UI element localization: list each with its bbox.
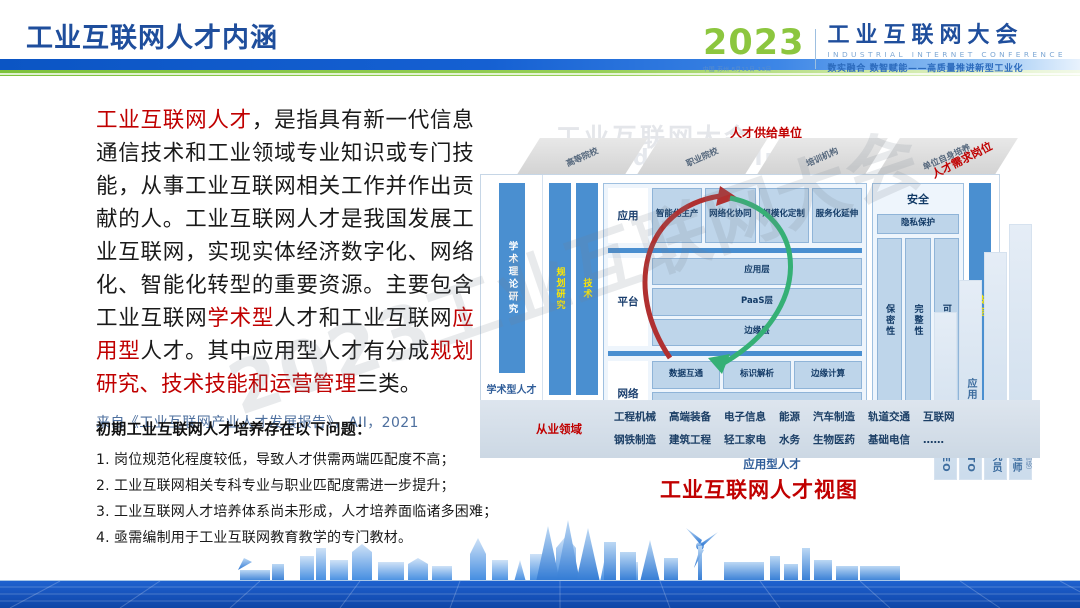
slide-root: 工业互联网人才内涵 2023 中国·苏州 8月11日-13日 工业互联网大会 I… <box>0 0 1080 608</box>
industry-item: 建筑工程 <box>669 429 711 452</box>
paragraph-body-3: 人才。其中应用型人才有分成 <box>141 339 430 364</box>
logo-divider <box>815 29 816 69</box>
industries-band: 从业领域 工程机械 高端装备 电子信息 能源 汽车制造 轨道交通 互联网 钢铁制… <box>480 400 1040 458</box>
supply-source-label: 职业院校 <box>684 145 720 170</box>
academic-talent-label: 学术型人才 <box>487 381 537 396</box>
security-cell: 保密性 <box>877 238 902 402</box>
grid-lines-graphic <box>0 581 1080 608</box>
academic-column: 学术理论研究 学术型人才 <box>481 175 543 431</box>
stack-tag-platform: 平台 <box>608 258 648 346</box>
network-upper-cells: 数据互通 标识解析 边缘计算 <box>652 361 862 389</box>
academic-research-label: 学术理论研究 <box>505 241 519 316</box>
list-item-text: 工业互联网相关专科专业与职业匹配度需进一步提升； <box>114 478 455 494</box>
supply-source-tab: 高等院校 <box>516 138 648 176</box>
list-item: 2.工业互联网相关专科专业与职业匹配度需进一步提升； <box>96 473 566 499</box>
city-skyline-graphic <box>0 518 1080 582</box>
definition-paragraph: 工业互联网人才，是指具有新一代信息通信技术和工业领域专业知识或专门技能，从事工业… <box>96 104 474 401</box>
stack-cells-application: 智能化生产 网络化协同 规模化定制 服务化延伸 <box>652 188 862 243</box>
industries-rows: 工程机械 高端装备 电子信息 能源 汽车制造 轨道交通 互联网 钢铁制造 建筑工… <box>614 406 955 452</box>
industry-item: 汽车制造 <box>813 406 855 429</box>
conference-logo: 2023 中国·苏州 8月11日-13日 工业互联网大会 INDUSTRIAL … <box>703 24 1066 74</box>
applied-talent-label: 应用型人才 <box>544 456 1000 472</box>
logo-year-subtitle: 中国·苏州 8月11日-13日 <box>703 65 804 73</box>
stack-cell: 数据互通 <box>652 361 720 389</box>
academic-research-bar: 学术理论研究 <box>499 183 525 373</box>
logo-chinese-name: 工业互联网大会 <box>827 24 1066 48</box>
industry-item: 基础电信 <box>868 429 910 452</box>
supply-source-label: 高等院校 <box>564 145 600 170</box>
skill-bar-planning: 规划研究 <box>549 183 571 395</box>
stack-cell: PaaS层 <box>652 288 862 315</box>
stack-cell: 应用层 <box>652 258 862 285</box>
industry-item: 生物医药 <box>813 429 855 452</box>
security-cell-label: 保密性 <box>883 304 896 337</box>
page-title: 工业互联网人才内涵 <box>26 16 278 55</box>
industry-item: 工程机械 <box>614 406 656 429</box>
logo-english-name: INDUSTRIAL INTERNET CONFERENCE <box>827 50 1066 59</box>
talent-view-diagram: 人才供给单位 高等院校 职业院校 培训机构 单位自身培养 学术理论研究 学术型人… <box>480 112 1040 462</box>
stack-cell: 边缘层 <box>652 319 862 346</box>
stack-separator <box>608 248 862 253</box>
applied-framework-column: 规划研究 技术 应用 智能化生产 网络化协同 规模化定制 服务化延伸 <box>543 175 999 431</box>
industry-item: 轻工家电 <box>724 429 766 452</box>
industry-item: 高端装备 <box>669 406 711 429</box>
stack-row-platform: 平台 应用层 PaaS层 边缘层 <box>608 258 862 346</box>
slide-header: 工业互联网人才内涵 2023 中国·苏州 8月11日-13日 工业互联网大会 I… <box>0 0 1080 90</box>
logo-tagline: 数实融合 数智赋能——高质量推进新型工业化 <box>827 61 1066 74</box>
industry-item: 电子信息 <box>724 406 766 429</box>
list-item-text: 岗位规范化程度较低，导致人才供需两端匹配度不高； <box>114 452 455 468</box>
logo-year: 2023 <box>703 26 804 61</box>
industries-label: 从业领域 <box>536 421 582 437</box>
stack-tag-application: 应用 <box>608 188 648 243</box>
industry-item: 水务 <box>779 429 800 452</box>
skill-bar-label: 规划研究 <box>554 267 567 311</box>
industry-item: …… <box>923 429 944 452</box>
industry-item: 轨道交通 <box>868 406 910 429</box>
industry-item: 能源 <box>779 406 800 429</box>
stack-cells-platform: 应用层 PaaS层 边缘层 <box>652 258 862 346</box>
supply-source-tab: 职业院校 <box>636 138 768 176</box>
stack-cell: 服务化延伸 <box>812 188 862 243</box>
stack-cell: 网络化协同 <box>705 188 755 243</box>
paragraph-tail: 三类。 <box>356 372 421 397</box>
stack-row-application: 应用 智能化生产 网络化协同 规模化定制 服务化延伸 <box>608 188 862 243</box>
skill-bar-label: 技术 <box>581 278 594 300</box>
skill-bar-technology: 技术 <box>576 183 598 395</box>
logo-text-block: 工业互联网大会 INDUSTRIAL INTERNET CONFERENCE 数… <box>827 24 1066 74</box>
slide-footer <box>0 518 1080 608</box>
diagram-caption: 工业互联网人才视图 <box>660 474 858 504</box>
list-item-number: 2. <box>96 473 114 499</box>
logo-year-block: 2023 中国·苏州 8月11日-13日 <box>703 26 804 73</box>
paragraph-body-2: 人才和工业互联网 <box>274 306 452 331</box>
security-cell-label: 完整性 <box>911 304 924 337</box>
industry-item: 互联网 <box>923 406 955 429</box>
security-cell: 完整性 <box>905 238 930 402</box>
stack-cell: 规模化定制 <box>759 188 809 243</box>
architecture-stack: 应用 智能化生产 网络化协同 规模化定制 服务化延伸 平台 应用层 <box>603 183 867 431</box>
stack-separator <box>608 351 862 356</box>
supply-source-tab: 培训机构 <box>756 138 888 176</box>
list-item-number: 1. <box>96 447 114 473</box>
supply-source-label: 培训机构 <box>804 145 840 170</box>
talent-framework-house: 学术理论研究 学术型人才 规划研究 技术 应用 智能化生产 网络化协同 <box>480 174 1000 432</box>
industries-row-1: 工程机械 高端装备 电子信息 能源 汽车制造 轨道交通 互联网 <box>614 406 955 429</box>
paragraph-body-1: ，是指具有新一代信息通信技术和工业领域专业知识或专门技能，从事工业互联网相关工作… <box>96 108 474 331</box>
stack-cell: 标识解析 <box>723 361 791 389</box>
industry-item: 钢铁制造 <box>614 429 656 452</box>
industries-row-2: 钢铁制造 建筑工程 轻工家电 水务 生物医药 基础电信 …… <box>614 429 955 452</box>
left-text-column: 工业互联网人才，是指具有新一代信息通信技术和工业领域专业知识或专门技能，从事工业… <box>96 104 474 432</box>
term-industrial-internet-talent: 工业互联网人才 <box>96 108 252 133</box>
footer-grid-band <box>0 581 1080 608</box>
term-academic-type: 学术型 <box>207 306 274 331</box>
stack-cell: 边缘计算 <box>794 361 862 389</box>
stack-cell: 智能化生产 <box>652 188 702 243</box>
